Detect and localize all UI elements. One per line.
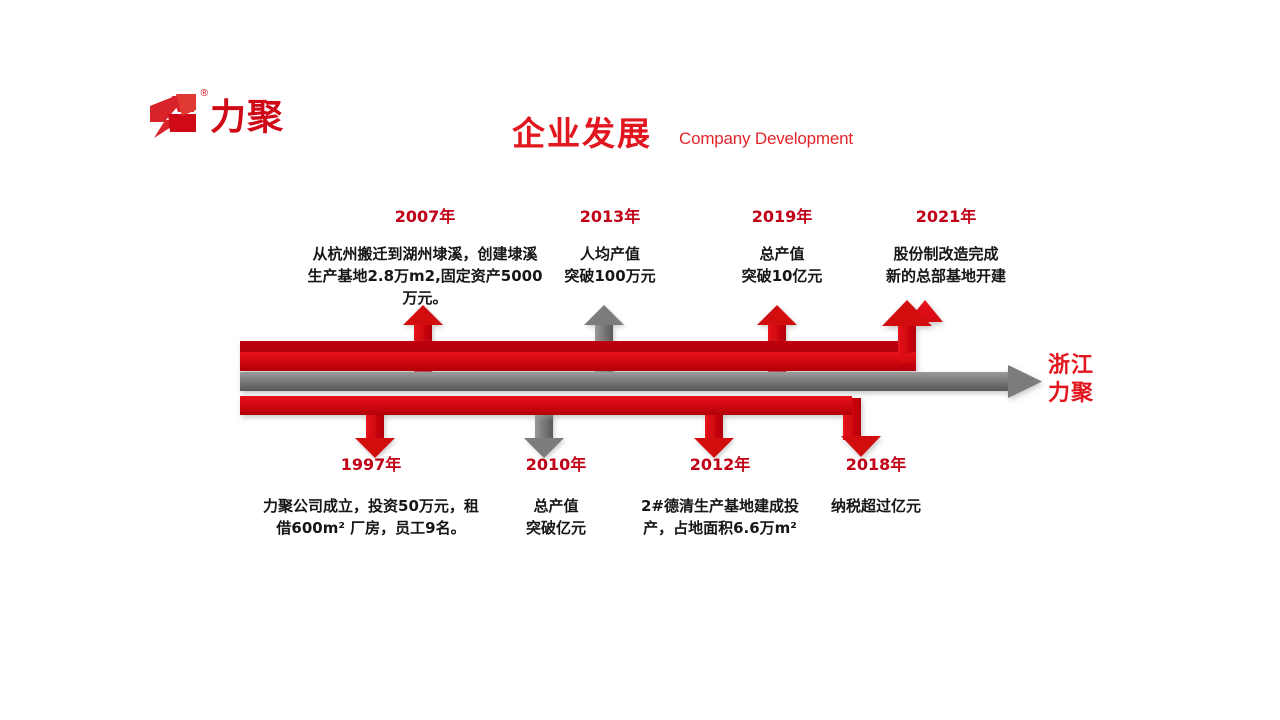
event-desc-2007: 从杭州搬迁到湖州埭溪，创建埭溪生产基地2.8万m2,固定资产5000万元。 [306,244,544,309]
event-desc-1997: 力聚公司成立，投资50万元，租借600m² 厂房，员工9名。 [262,496,480,540]
event-desc-2019-line1: 总产值 [706,244,858,266]
event-1997: 1997年 力聚公司成立，投资50万元，租借600m² 厂房，员工9名。 [262,455,480,540]
event-desc-2018: 纳税超过亿元 [790,496,962,518]
event-year-2019: 2019年 [706,207,858,226]
event-2018: 2018年 纳税超过亿元 [790,455,962,518]
event-desc-2010-line1: 总产值 [486,496,626,518]
branch-down-2012 [694,410,734,458]
timeline-top-red-bar-overlay [240,352,900,371]
timeline-bottom-red-bar-overlay [240,396,852,415]
end-label-line-2: 力聚 [1048,380,1094,408]
event-2007: 2007年 从杭州搬迁到湖州埭溪，创建埭溪生产基地2.8万m2,固定资产5000… [306,207,544,309]
event-year-2012: 2012年 [638,455,802,474]
event-2012: 2012年 2#德清生产基地建成投产，占地面积6.6万m² [638,455,802,540]
event-2013: 2013年 人均产值 突破100万元 [536,207,684,288]
event-desc-2012: 2#德清生产基地建成投产，占地面积6.6万m² [638,496,802,540]
event-year-2013: 2013年 [536,207,684,226]
event-desc-2013-line2: 突破100万元 [536,266,684,288]
timeline-end-label: 浙江 力聚 [1048,352,1094,407]
event-year-1997: 1997年 [262,455,480,474]
event-desc-2013-line1: 人均产值 [536,244,684,266]
event-year-2018: 2018年 [790,455,962,474]
slide-canvas: ® 力聚 企业发展 Company Development [0,0,1280,720]
event-2010: 2010年 总产值 突破亿元 [486,455,626,540]
event-year-2007: 2007年 [306,207,544,226]
end-label-line-1: 浙江 [1048,352,1094,380]
event-year-2010: 2010年 [486,455,626,474]
event-year-2021: 2021年 [860,207,1032,226]
event-2021: 2021年 股份制改造完成 新的总部基地开建 [860,207,1032,288]
event-desc-2019-line2: 突破10亿元 [706,266,858,288]
event-2019: 2019年 总产值 突破10亿元 [706,207,858,288]
event-desc-2021-line1: 股份制改造完成 [860,244,1032,266]
event-desc-2010-line2: 突破亿元 [486,518,626,540]
event-desc-2021-line2: 新的总部基地开建 [860,266,1032,288]
